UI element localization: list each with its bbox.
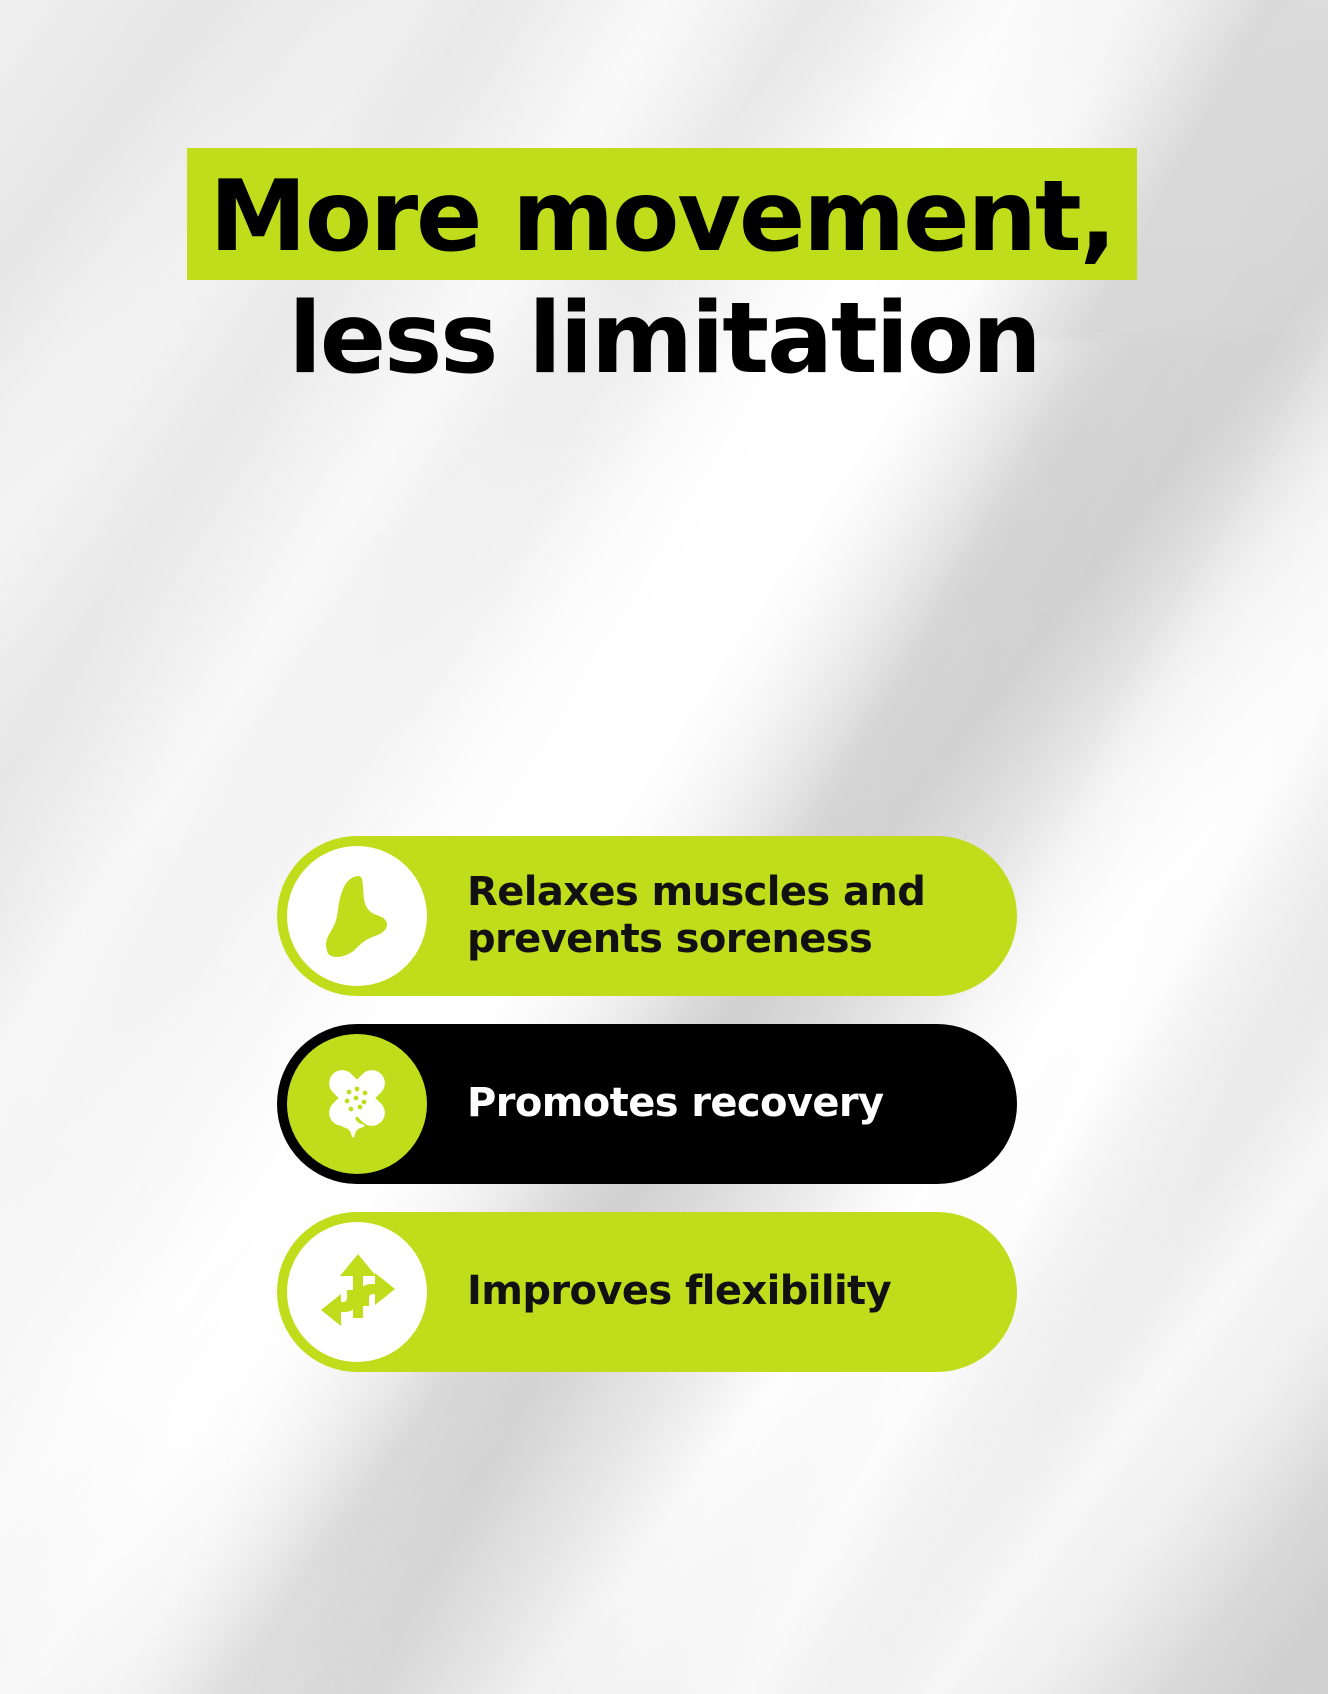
bandage-sparkle-icon xyxy=(287,1034,427,1174)
benefit-item-improves-flexibility[interactable]: Improves flexibility xyxy=(277,1212,1017,1372)
foot-heart-icon xyxy=(287,846,427,986)
benefit-label-line-1: Relaxes muscles and xyxy=(467,869,925,915)
benefit-item-promotes-recovery[interactable]: Promotes recovery xyxy=(277,1024,1017,1184)
benefit-label-line-2: prevents soreness xyxy=(467,916,872,962)
poster-canvas: More movement, less limitation Relaxes m… xyxy=(0,0,1328,1694)
branching-arrows-icon xyxy=(287,1222,427,1362)
benefit-label-line-1: Improves flexibility xyxy=(467,1268,891,1314)
benefit-label: Promotes recovery xyxy=(467,1080,884,1127)
benefit-label-line-1: Promotes recovery xyxy=(467,1080,884,1126)
benefits-list: Relaxes muscles and prevents soreness xyxy=(277,836,1047,1372)
benefit-label: Improves flexibility xyxy=(467,1268,891,1315)
page-title: More movement, less limitation xyxy=(0,148,1328,395)
headline-line-1: More movement, xyxy=(187,148,1136,280)
benefit-item-relaxes-muscles[interactable]: Relaxes muscles and prevents soreness xyxy=(277,836,1017,996)
benefit-label: Relaxes muscles and prevents soreness xyxy=(467,869,925,963)
headline-line-2: less limitation xyxy=(0,284,1328,396)
